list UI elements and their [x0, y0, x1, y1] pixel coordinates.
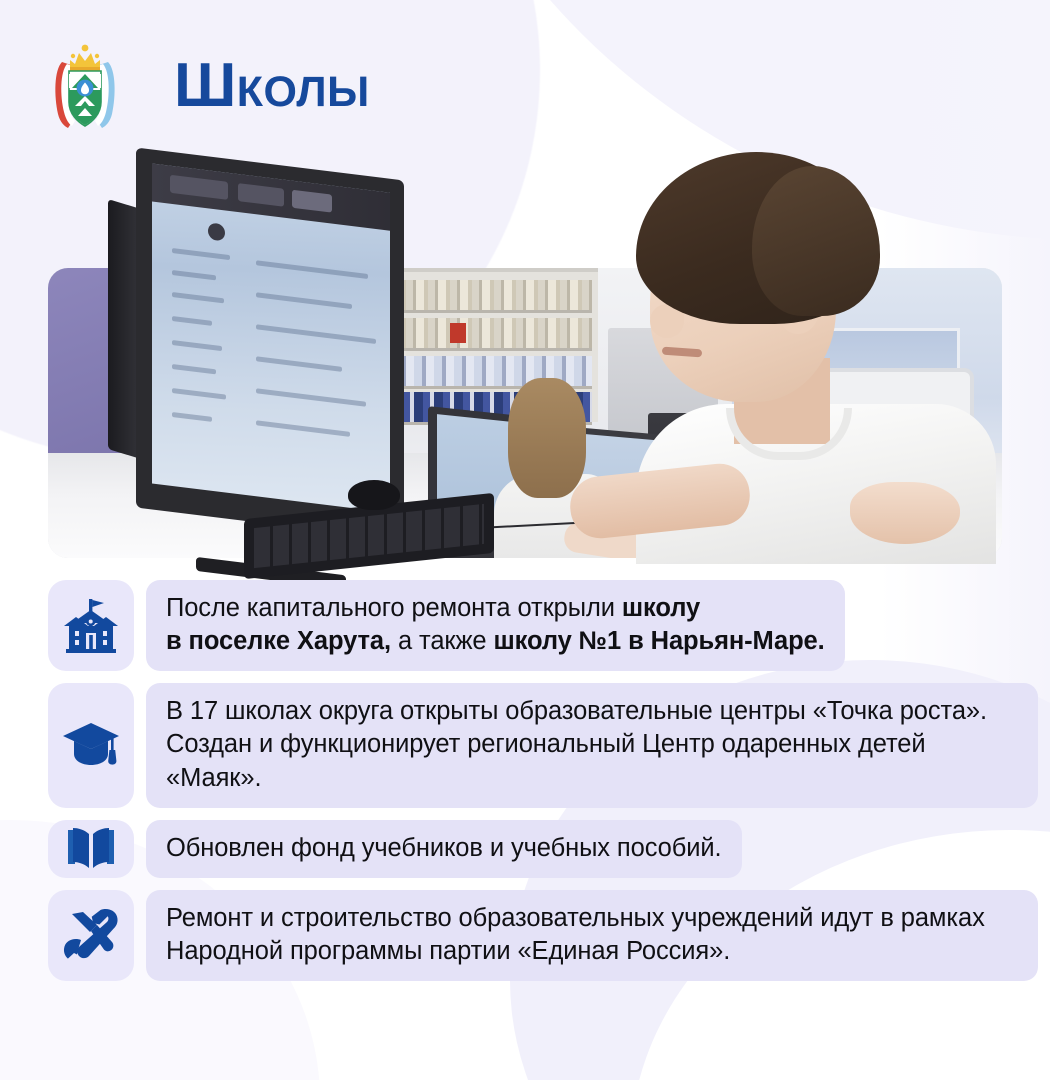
fact-text: Ремонт и строительство образовательных у…: [146, 890, 1038, 981]
photo-red-box: [450, 323, 466, 343]
list-item: Ремонт и строительство образовательных у…: [48, 890, 1038, 981]
hero-photo-card: [48, 268, 1002, 558]
fact-text: В 17 школах округа открыты образовательн…: [146, 683, 1038, 807]
hammer-wrench-icon: [63, 908, 119, 962]
list-item: В 17 школах округа открыты образовательн…: [48, 683, 1038, 807]
fact-text-part-bold: школу: [622, 594, 700, 622]
list-item: Обновлен фонд учебников и учебных пособи…: [48, 820, 1038, 878]
infographic-page: Школы: [0, 0, 1050, 1080]
fact-text: После капитального ремонта открыли школу…: [146, 580, 845, 671]
list-item: После капитального ремонта открыли школу…: [48, 580, 1038, 671]
fact-text-part: а также: [391, 627, 494, 655]
fact-text-part-bold: в поселке Харута,: [166, 627, 391, 655]
fact-text-part-bold: в Нарьян-Маре.: [628, 627, 825, 655]
header: Школы: [48, 38, 370, 134]
icon-box-tools: [48, 890, 134, 981]
coat-of-arms-icon: [48, 38, 122, 134]
hero-photo: [48, 158, 1002, 558]
school-building-icon: [63, 599, 119, 653]
fact-text-part: [621, 627, 628, 655]
fact-text-part: После капитального ремонта открыли: [166, 594, 622, 622]
photo-purple-panel: [48, 268, 144, 453]
icon-box-book: [48, 820, 134, 878]
fact-text-part-bold: школу №1: [494, 627, 622, 655]
page-title: Школы: [174, 55, 370, 117]
open-book-icon: [65, 826, 117, 872]
icon-box-school: [48, 580, 134, 671]
photo-student-girl: [500, 378, 620, 558]
graduation-cap-icon: [62, 721, 120, 769]
facts-list: После капитального ремонта открыли школу…: [48, 580, 1038, 993]
icon-box-graduation: [48, 683, 134, 807]
fact-text: Обновлен фонд учебников и учебных пособи…: [146, 820, 742, 878]
